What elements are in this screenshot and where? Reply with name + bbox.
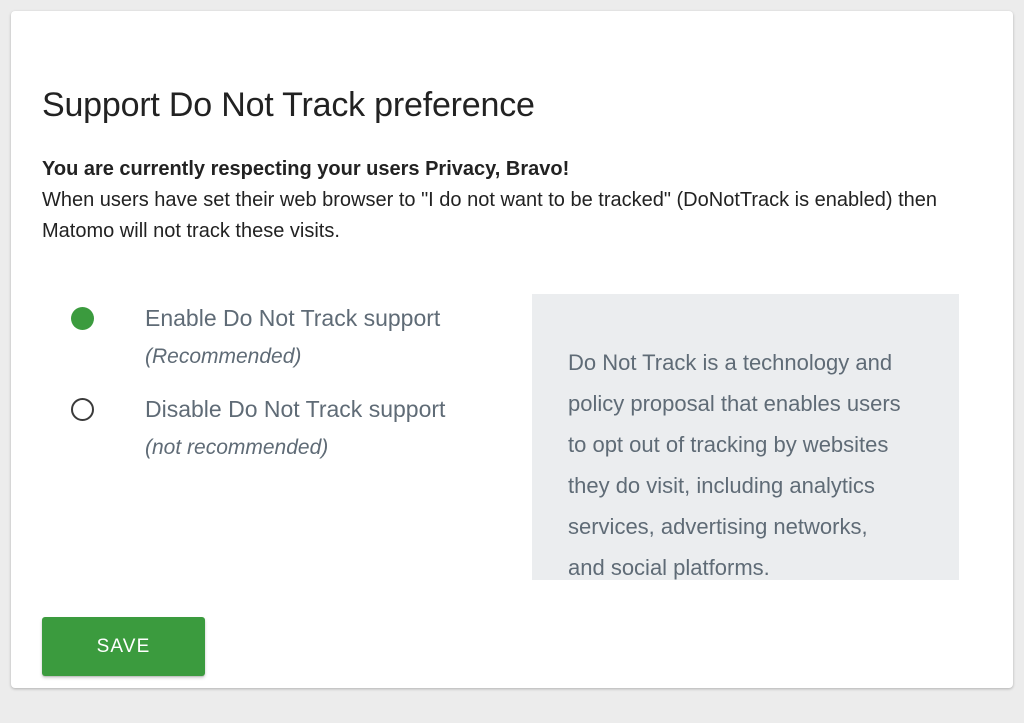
intro-description: When users have set their web browser to… (42, 185, 947, 247)
do-not-track-radio-group: Enable Do Not Track support (Recommended… (71, 295, 511, 463)
info-panel-text: Do Not Track is a technology and policy … (568, 342, 908, 588)
radio-unchecked-icon[interactable] (71, 398, 94, 421)
radio-checked-icon[interactable] (71, 307, 94, 330)
radio-option-disable-label: Disable Do Not Track support (145, 386, 445, 433)
radio-option-disable-sublabel: (not recommended) (145, 433, 445, 463)
save-button[interactable]: SAVE (42, 617, 205, 676)
radio-option-disable[interactable]: Disable Do Not Track support (not recomm… (71, 386, 511, 463)
radio-option-disable-texts: Disable Do Not Track support (not recomm… (145, 386, 445, 463)
radio-option-enable[interactable]: Enable Do Not Track support (Recommended… (71, 295, 511, 372)
privacy-status-line: You are currently respecting your users … (42, 154, 952, 185)
radio-option-enable-label: Enable Do Not Track support (145, 295, 440, 342)
info-panel: Do Not Track is a technology and policy … (532, 294, 959, 580)
radio-option-enable-sublabel: (Recommended) (145, 342, 440, 372)
intro-block: You are currently respecting your users … (42, 154, 952, 247)
radio-option-enable-texts: Enable Do Not Track support (Recommended… (145, 295, 440, 372)
settings-card: Support Do Not Track preference You are … (11, 11, 1013, 688)
page-title: Support Do Not Track preference (42, 85, 535, 125)
